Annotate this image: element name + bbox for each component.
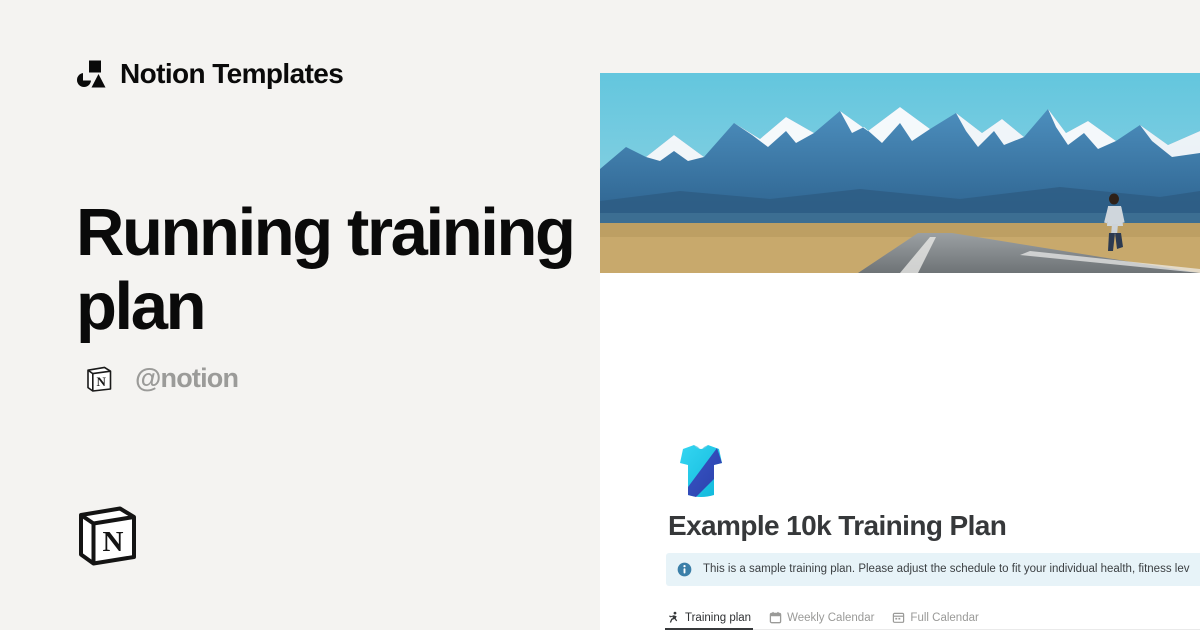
tab-full-calendar[interactable]: Full Calendar	[892, 611, 978, 629]
tab-label: Training plan	[685, 612, 751, 624]
brand-row: Notion Templates	[76, 58, 343, 90]
calendar-icon	[769, 611, 782, 624]
page-title: Running training plan	[76, 196, 596, 343]
author-row[interactable]: N @notion	[85, 363, 238, 394]
tab-label: Weekly Calendar	[787, 612, 874, 624]
template-preview-panel: Example 10k Training Plan This is a samp…	[600, 73, 1200, 630]
runner-icon	[667, 611, 680, 624]
notion-cube-logo: N	[76, 505, 138, 567]
cover-image	[600, 73, 1200, 273]
calendar-grid-icon	[892, 611, 905, 624]
tab-weekly-calendar[interactable]: Weekly Calendar	[769, 611, 874, 629]
callout-banner: This is a sample training plan. Please a…	[666, 553, 1200, 586]
notion-cube-icon: N	[85, 365, 113, 393]
running-shirt-emoji	[670, 441, 732, 503]
brand-label: Notion Templates	[120, 58, 343, 90]
tab-training-plan[interactable]: Training plan	[667, 611, 751, 629]
callout-text: This is a sample training plan. Please a…	[703, 564, 1189, 576]
svg-text:N: N	[103, 526, 124, 558]
author-handle: @notion	[135, 363, 238, 394]
view-tabs: Training plan Weekly Calendar	[667, 605, 1200, 630]
info-icon	[677, 562, 692, 577]
svg-text:N: N	[97, 374, 107, 389]
tab-label: Full Calendar	[910, 612, 978, 624]
left-panel: Notion Templates Running training plan N…	[0, 0, 600, 630]
shapes-icon	[76, 60, 106, 88]
preview-page-title: Example 10k Training Plan	[668, 510, 1006, 542]
